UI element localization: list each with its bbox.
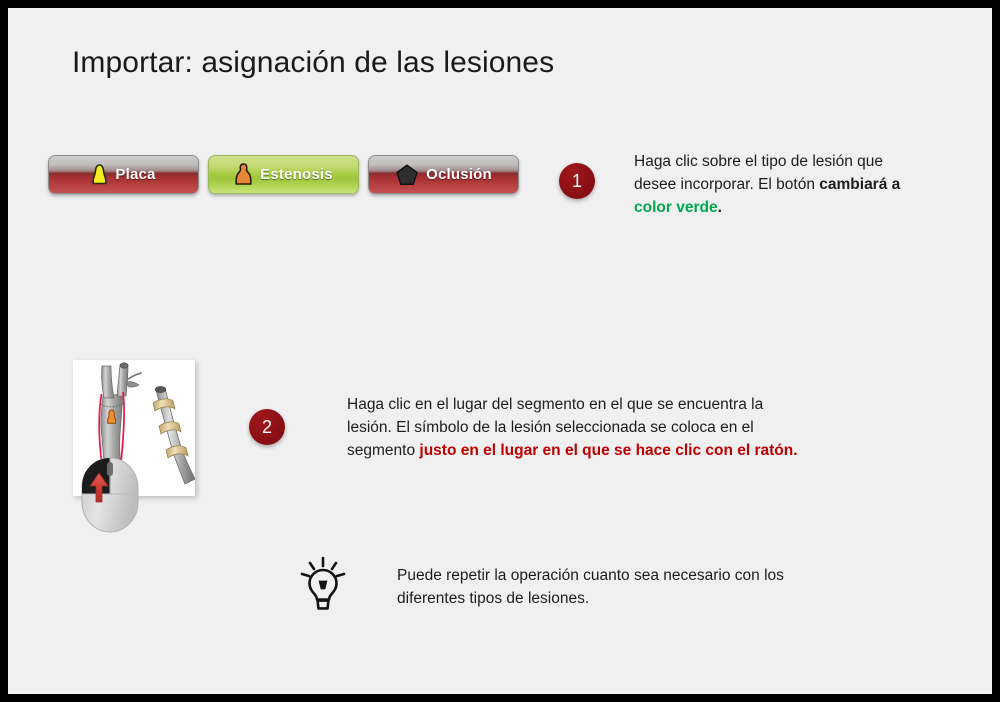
- step-2-text-red: justo en el lugar en el que se hace clic…: [419, 442, 797, 459]
- slide-canvas: Importar: asignación de las lesiones Pla…: [8, 8, 992, 694]
- page-title: Importar: asignación de las lesiones: [72, 46, 554, 80]
- lesion-button-oclusion-label: Oclusión: [426, 167, 492, 182]
- lesion-button-estenosis[interactable]: Estenosis: [208, 155, 359, 194]
- lesion-button-placa[interactable]: Placa: [48, 155, 199, 194]
- step-1-text-green: color verde: [634, 199, 718, 216]
- lesion-button-placa-label: Placa: [115, 167, 155, 182]
- step-1-text-period: .: [718, 199, 722, 216]
- occlusion-pentagon-icon: [395, 163, 419, 187]
- tip-text: Puede repetir la operación cuanto sea ne…: [397, 565, 847, 611]
- illustration-vessel-click: [73, 360, 195, 496]
- step-badge-1: 1: [559, 163, 595, 199]
- lesion-button-oclusion[interactable]: Oclusión: [368, 155, 519, 194]
- mouse-click-icon: [80, 456, 148, 536]
- step-1-text-bold: cambiará a: [819, 176, 900, 193]
- plaque-dome-icon: [91, 163, 108, 187]
- step-2-instruction: Haga clic en el lugar del segmento en el…: [347, 394, 807, 462]
- step-badge-2: 2: [249, 409, 285, 445]
- lesion-marker-on-vessel: [108, 410, 116, 423]
- lightbulb-icon: [300, 556, 346, 612]
- lesion-button-estenosis-label: Estenosis: [260, 167, 333, 182]
- stenosis-hourglass-icon: [234, 162, 253, 188]
- step-1-instruction: Haga clic sobre el tipo de lesión que de…: [634, 151, 904, 219]
